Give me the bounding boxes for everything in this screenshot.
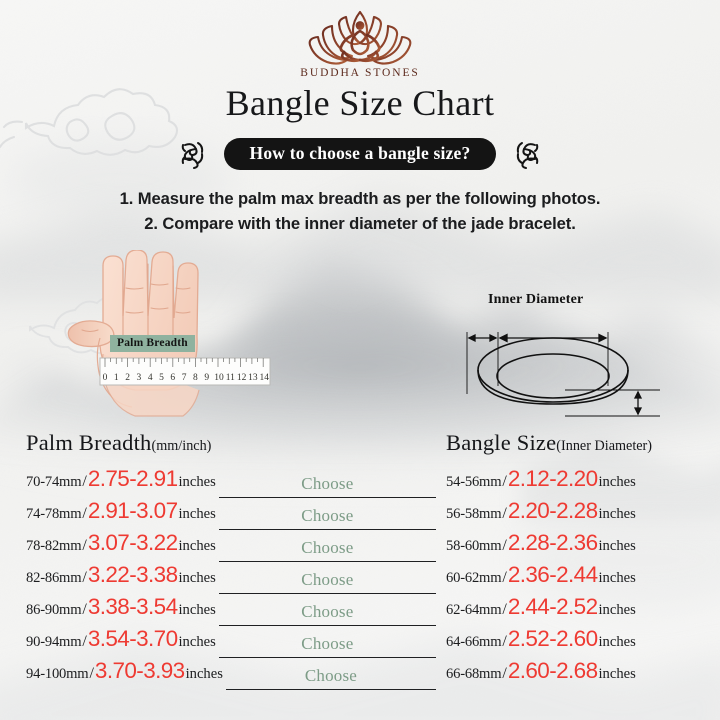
brand-name: BUDDHA STONES [0,67,720,79]
choose-field[interactable]: Choose [219,602,436,628]
bangle-size-rows: 54-56mm/2.12-2.20inches56-58mm/2.20-2.28… [446,468,718,692]
inch-range: 2.60-2.68 [508,660,598,683]
size-row[interactable]: 74-78mm/2.91-3.07inchesChoose [26,500,436,532]
choose-field[interactable]: Choose [226,666,436,692]
hand-measurement-figure: 012 345 678 91011 121314 Palm Breadth [60,250,310,425]
mm-range: 86-90mm [26,602,81,619]
palm-breadth-header-main: Palm Breadth [26,430,152,455]
svg-text:0: 0 [103,373,108,383]
mm-range: 94-100mm [26,666,88,683]
bangle-size-header-main: Bangle Size [446,430,556,455]
size-row: 64-66mm/2.52-2.60inches [446,628,718,660]
mm-range: 74-78mm [26,506,81,523]
unit-label: inches [185,666,223,683]
choose-label[interactable]: Choose [301,538,353,558]
inch-range: 3.07-3.22 [88,532,178,555]
svg-text:2: 2 [125,373,130,383]
inch-range: 2.20-2.28 [508,500,598,523]
palm-breadth-table: Palm Breadth(mm/inch) 70-74mm/2.75-2.91i… [26,430,436,692]
inch-range: 3.22-3.38 [88,564,178,587]
choose-label[interactable]: Choose [305,666,357,686]
inner-diameter-label: Inner Diameter [488,292,583,308]
inch-range: 3.38-3.54 [88,596,178,619]
choose-label[interactable]: Choose [301,634,353,654]
choose-field[interactable]: Choose [219,506,436,532]
mm-range: 54-56mm [446,474,501,491]
mm-range: 62-64mm [446,602,501,619]
subtitle-pill: How to choose a bangle size? [224,138,497,170]
unit-label: inches [598,474,636,491]
mm-range: 66-68mm [446,666,501,683]
choose-label[interactable]: Choose [301,506,353,526]
mm-range: 78-82mm [26,538,81,555]
unit-label: inches [178,570,216,587]
instruction-line-2: 2. Compare with the inner diameter of th… [0,211,720,236]
choose-label[interactable]: Choose [301,474,353,494]
inch-range: 2.44-2.52 [508,596,598,619]
choose-underline [219,657,436,658]
size-row: 56-58mm/2.20-2.28inches [446,500,718,532]
size-row[interactable]: 90-94mm/3.54-3.70inchesChoose [26,628,436,660]
svg-text:8: 8 [193,373,198,383]
inch-range: 3.70-3.93 [95,660,185,683]
palm-breadth-header-sub: (mm/inch) [152,438,212,454]
unit-label: inches [598,602,636,619]
bangle-size-table-header: Bangle Size(Inner Diameter) [446,430,718,456]
palm-breadth-table-header: Palm Breadth(mm/inch) [26,430,436,456]
choose-label[interactable]: Choose [301,570,353,590]
choose-underline [219,625,436,626]
size-row[interactable]: 82-86mm/3.22-3.38inchesChoose [26,564,436,596]
unit-label: inches [598,634,636,651]
size-row[interactable]: 78-82mm/3.07-3.22inchesChoose [26,532,436,564]
size-row[interactable]: 86-90mm/3.38-3.54inchesChoose [26,596,436,628]
page-title: Bangle Size Chart [0,82,720,124]
mm-range: 82-86mm [26,570,81,587]
inch-range: 2.75-2.91 [88,468,178,491]
size-row: 62-64mm/2.44-2.52inches [446,596,718,628]
ruler-icon: 012 345 678 91011 121314 [100,358,270,385]
unit-label: inches [178,506,216,523]
bangle-size-header-sub: (Inner Diameter) [556,438,652,454]
choose-field[interactable]: Choose [219,634,436,660]
instruction-line-1: 1. Measure the palm max breadth as per t… [0,186,720,211]
mm-range: 90-94mm [26,634,81,651]
choose-underline [219,593,436,594]
inch-range: 2.28-2.36 [508,532,598,555]
swirl-ornament-left-icon [181,137,215,171]
size-row: 58-60mm/2.28-2.36inches [446,532,718,564]
choose-field[interactable]: Choose [219,570,436,596]
unit-label: inches [598,570,636,587]
choose-underline [219,561,436,562]
svg-text:9: 9 [204,373,209,383]
svg-text:14: 14 [259,373,269,383]
svg-text:10: 10 [214,373,224,383]
unit-label: inches [178,538,216,555]
choose-label[interactable]: Choose [301,602,353,622]
size-row: 60-62mm/2.36-2.44inches [446,564,718,596]
inch-range: 3.54-3.70 [88,628,178,651]
unit-label: inches [598,506,636,523]
svg-text:13: 13 [248,373,258,383]
size-row: 54-56mm/2.12-2.20inches [446,468,718,500]
inch-range: 2.36-2.44 [508,564,598,587]
mm-range: 58-60mm [446,538,501,555]
mm-range: 56-58mm [446,506,501,523]
choose-underline [219,529,436,530]
palm-breadth-label: Palm Breadth [110,335,195,352]
svg-text:12: 12 [237,373,247,383]
choose-underline [219,497,436,498]
unit-label: inches [178,474,216,491]
inch-range: 2.52-2.60 [508,628,598,651]
size-row: 66-68mm/2.60-2.68inches [446,660,718,692]
svg-text:1: 1 [114,373,119,383]
choose-underline [226,689,436,690]
bangle-ring-inner-diameter-illustration-icon [460,312,660,424]
choose-field[interactable]: Choose [219,474,436,500]
brand-logo: BUDDHA STONES [0,8,720,79]
svg-text:4: 4 [148,373,153,383]
unit-label: inches [598,538,636,555]
choose-field[interactable]: Choose [219,538,436,564]
mm-range: 70-74mm [26,474,81,491]
subtitle-row: How to choose a bangle size? [0,137,720,171]
svg-text:5: 5 [159,373,164,383]
bangle-size-table: Bangle Size(Inner Diameter) 54-56mm/2.12… [446,430,718,692]
size-row[interactable]: 70-74mm/2.75-2.91inchesChoose [26,468,436,500]
mm-range: 60-62mm [446,570,501,587]
unit-label: inches [178,602,216,619]
svg-text:6: 6 [170,373,175,383]
palm-breadth-rows: 70-74mm/2.75-2.91inchesChoose74-78mm/2.9… [26,468,436,692]
bangle-diameter-figure: Inner Diameter [460,292,660,422]
swirl-ornament-right-icon [505,137,539,171]
unit-label: inches [598,666,636,683]
inch-range: 2.91-3.07 [88,500,178,523]
svg-text:7: 7 [182,373,187,383]
inch-range: 2.12-2.20 [508,468,598,491]
instructions-block: 1. Measure the palm max breadth as per t… [0,186,720,236]
lotus-meditation-logo-icon [306,8,414,66]
size-row[interactable]: 94-100mm/3.70-3.93inchesChoose [26,660,436,692]
svg-text:3: 3 [137,373,142,383]
mm-range: 64-66mm [446,634,501,651]
svg-text:11: 11 [226,373,235,383]
unit-label: inches [178,634,216,651]
